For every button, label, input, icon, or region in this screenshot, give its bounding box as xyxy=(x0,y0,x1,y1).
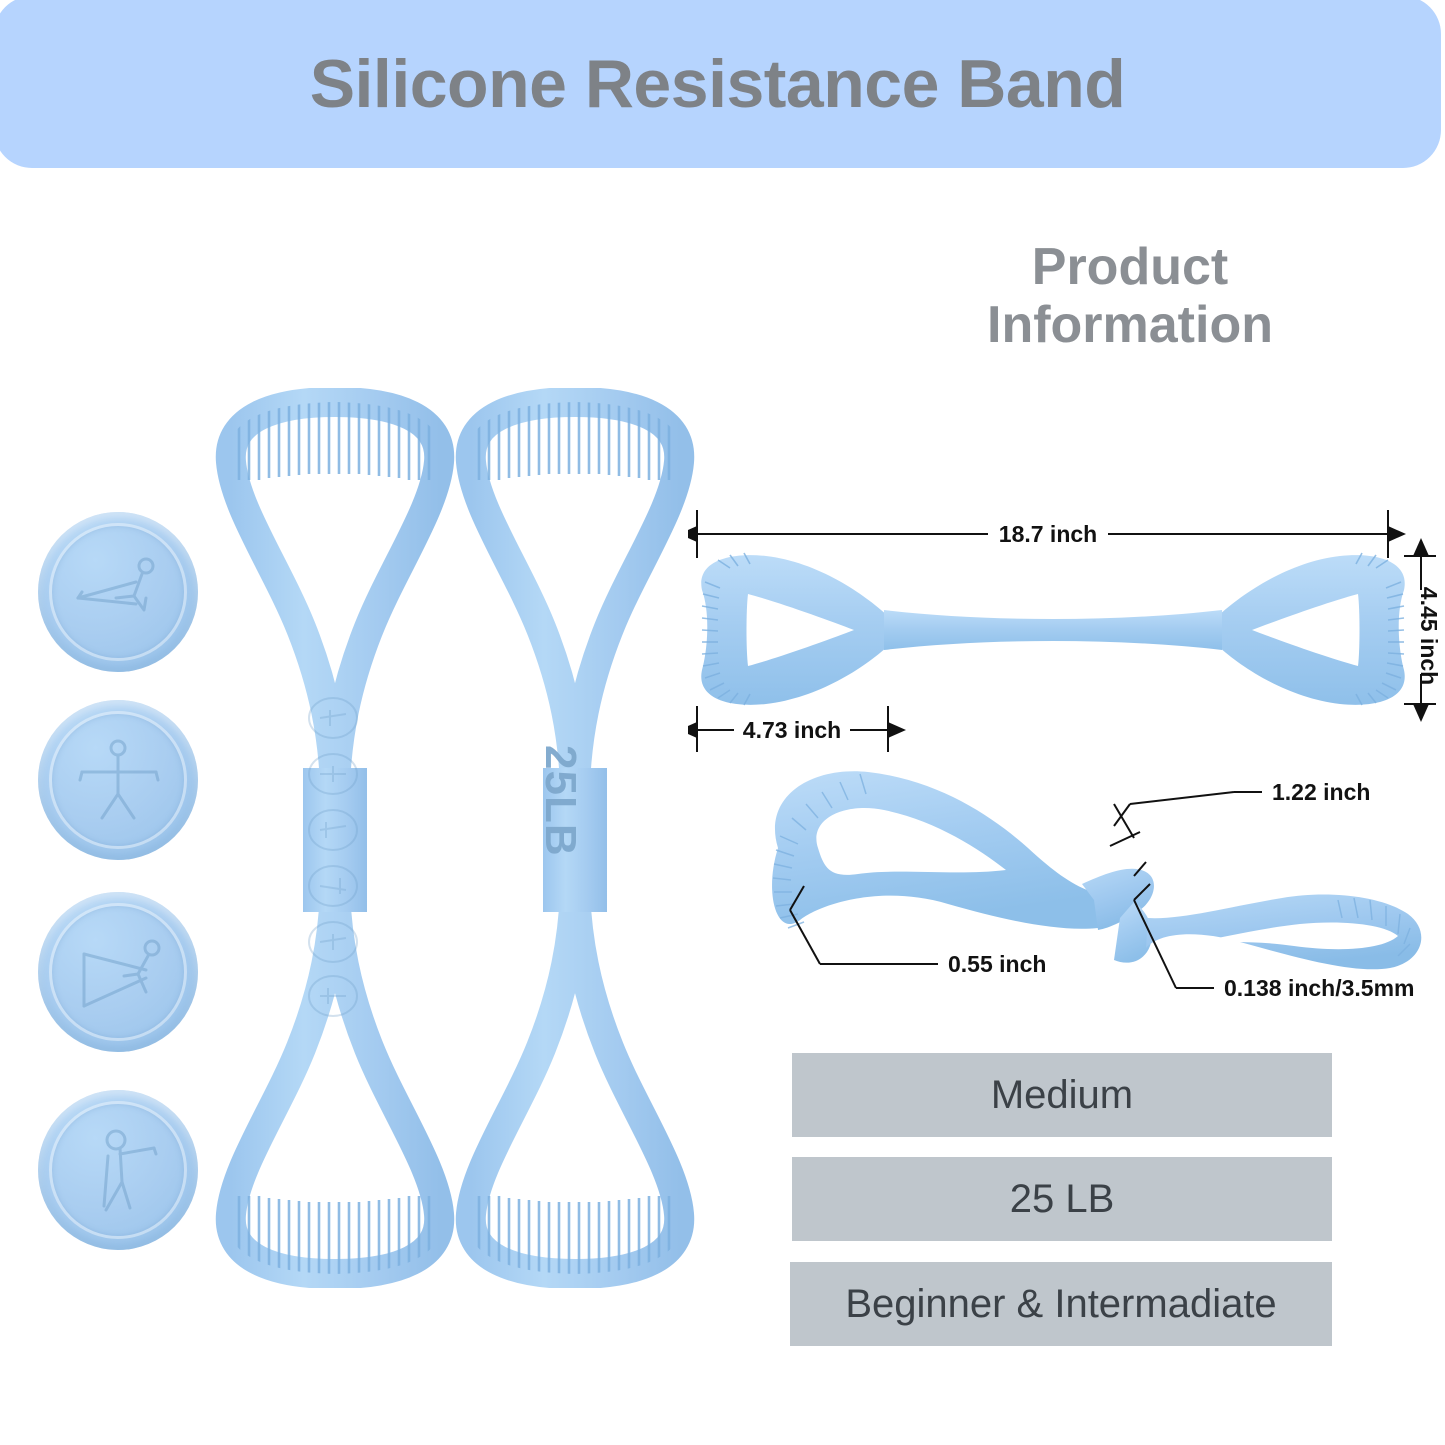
chest-press-figure-icon xyxy=(38,700,198,860)
row-pull-figure-icon xyxy=(38,892,198,1052)
stretching-figure-icon xyxy=(38,512,198,672)
exercise-disc-1 xyxy=(38,512,198,672)
product-information-heading: Product Information xyxy=(880,238,1380,354)
band-weight-label: 25LB xyxy=(535,745,585,857)
band-strap-embossed-icons xyxy=(300,690,366,1020)
spec-label-weight: 25 LB xyxy=(1010,1179,1115,1219)
callout-label-width-center: 1.22 inch xyxy=(1272,779,1370,805)
page-title: Silicone Resistance Band xyxy=(310,46,1126,118)
product-infographic: Silicone Resistance Band Product Informa… xyxy=(0,0,1445,1445)
spec-box-weight: 25 LB xyxy=(792,1157,1332,1241)
exercise-disc-4 xyxy=(38,1090,198,1250)
product-info-heading-line-2: Information xyxy=(880,296,1380,354)
callout-label-width-handle: 0.55 inch xyxy=(948,951,1046,977)
dimension-label-length: 18.7 inch xyxy=(999,521,1097,547)
exercise-disc-2 xyxy=(38,700,198,860)
shoulder-raise-figure-icon xyxy=(38,1090,198,1250)
dimension-label-height: 4.45 inch xyxy=(1416,587,1440,685)
header-banner: Silicone Resistance Band xyxy=(0,0,1441,168)
spec-label-skill-level: Beginner & Intermadiate xyxy=(845,1284,1276,1324)
callout-label-thickness: 0.138 inch/3.5mm xyxy=(1224,975,1415,1001)
exercise-disc-3 xyxy=(38,892,198,1052)
product-info-heading-line-1: Product xyxy=(880,238,1380,296)
flat-band-dimension-diagram: 18.7 inch 4.45 inch 4.73 inch xyxy=(688,498,1440,760)
spec-box-resistance-level: Medium xyxy=(792,1053,1332,1137)
spec-box-skill-level: Beginner & Intermadiate xyxy=(790,1262,1332,1346)
twisted-band-dimension-diagram: 1.22 inch 0.55 inch 0.138 inch/3.5mm xyxy=(742,752,1442,1024)
dimension-label-handle: 4.73 inch xyxy=(743,717,841,743)
spec-label-resistance-level: Medium xyxy=(991,1075,1133,1115)
